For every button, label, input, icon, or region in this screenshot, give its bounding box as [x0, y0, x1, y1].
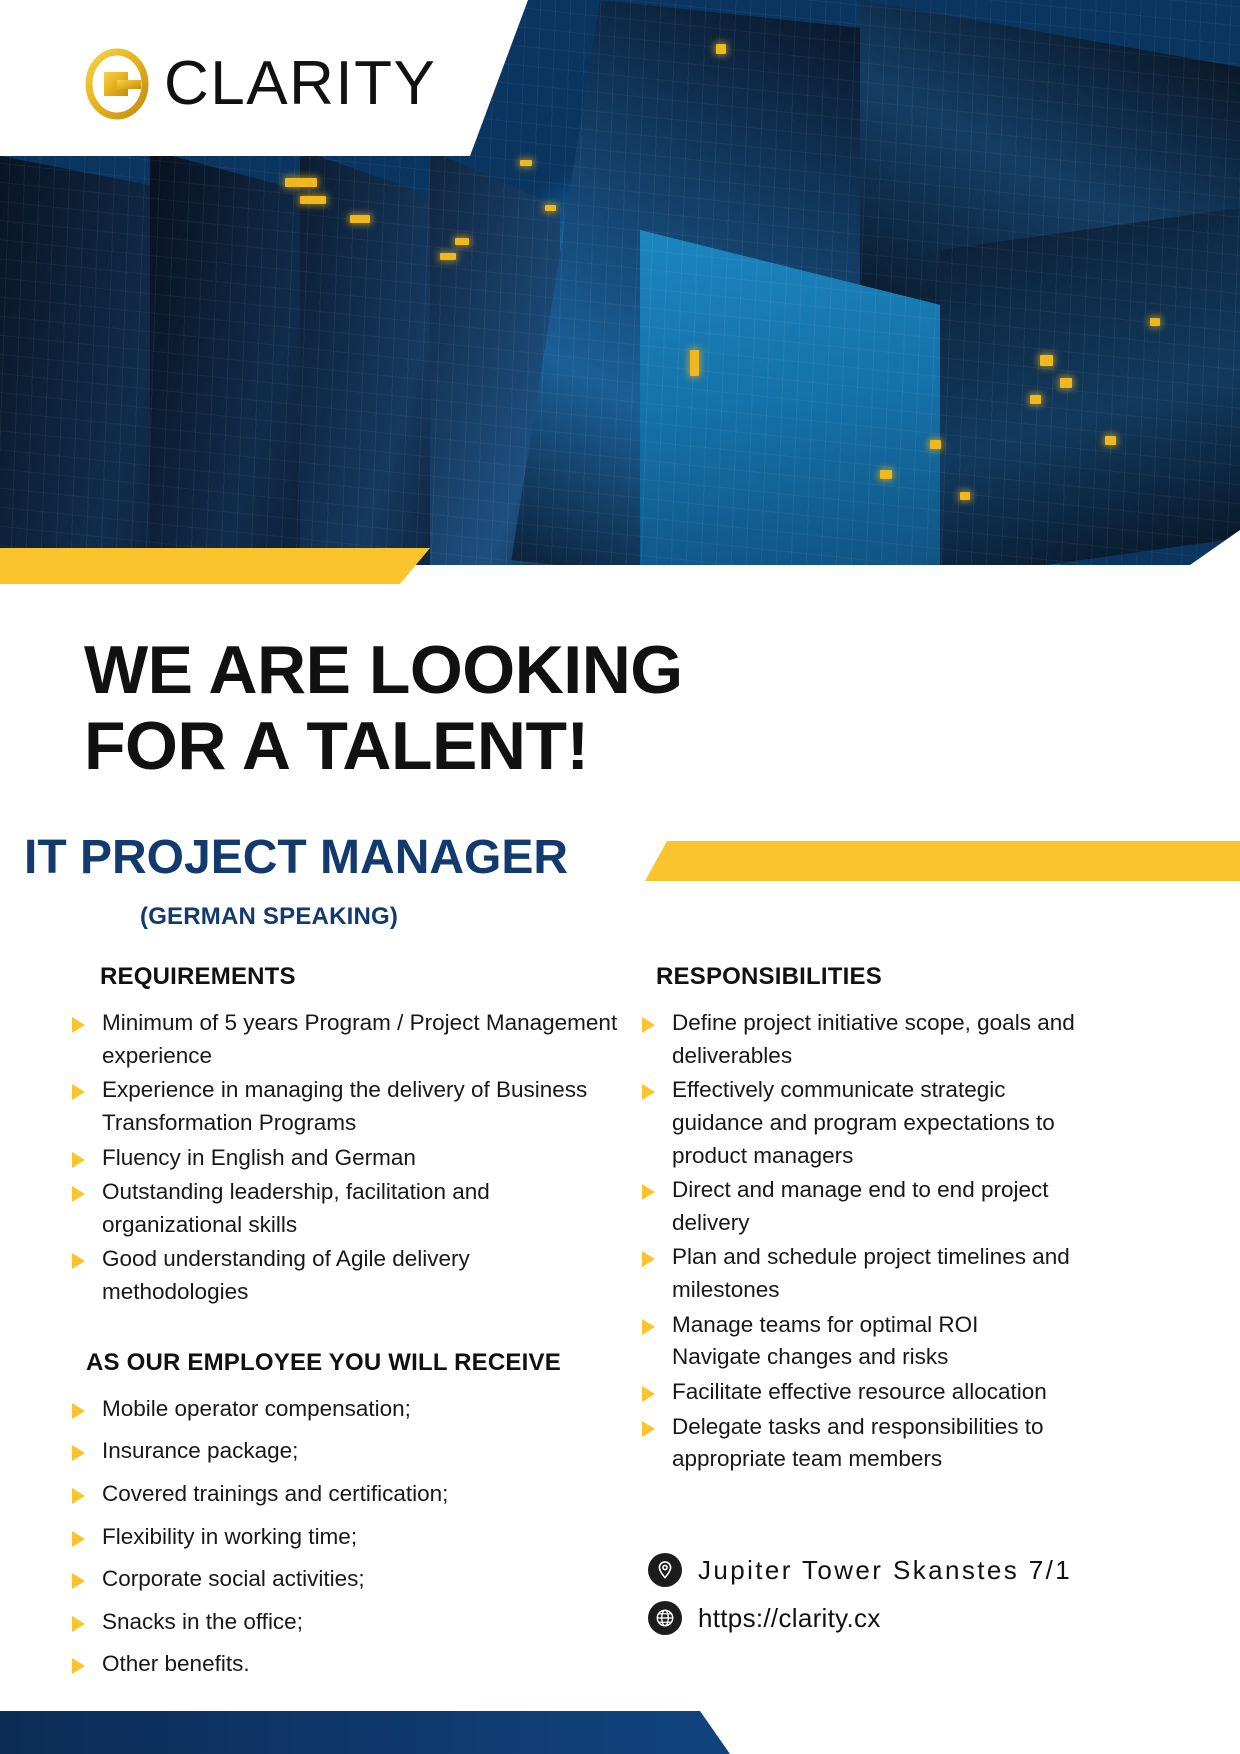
- brand-name: CLARITY: [164, 53, 436, 115]
- responsibilities-list: Define project initiative scope, goals a…: [630, 1007, 1100, 1476]
- benefits-heading: AS OUR EMPLOYEE YOU WILL RECEIVE: [86, 1349, 620, 1377]
- list-item-text: Corporate social activities;: [102, 1566, 365, 1591]
- list-item: Outstanding leadership, facilitation and…: [60, 1176, 620, 1241]
- list-item-extra-line: Navigate changes and risks: [672, 1341, 1100, 1374]
- list-item: Direct and manage end to end project del…: [630, 1174, 1100, 1239]
- brand-logo: CLARITY: [84, 48, 436, 120]
- list-item: Good understanding of Agile delivery met…: [60, 1243, 620, 1308]
- job-title-row: IT PROJECT MANAGER: [0, 833, 1240, 891]
- triangle-bullet-icon: [72, 1658, 85, 1674]
- list-item: Plan and schedule project timelines and …: [630, 1241, 1100, 1306]
- list-item-text: Minimum of 5 years Program / Project Man…: [102, 1010, 617, 1068]
- lit-window: [300, 196, 326, 204]
- lit-window: [1030, 395, 1041, 404]
- list-item: Facilitate effective resource allocation: [630, 1376, 1100, 1409]
- triangle-bullet-icon: [642, 1319, 655, 1335]
- list-item-text: Mobile operator compensation;: [102, 1396, 411, 1421]
- location-pin-icon: [648, 1553, 682, 1587]
- lit-window: [1105, 436, 1116, 445]
- contact-website-row[interactable]: https://clarity.cx: [648, 1601, 1072, 1635]
- list-item-text: Define project initiative scope, goals a…: [672, 1010, 1075, 1068]
- headline-line-1: WE ARE LOOKING: [84, 632, 844, 708]
- list-item-text: Direct and manage end to end project del…: [672, 1177, 1049, 1235]
- contact-address-row: Jupiter Tower Skanstes 7/1: [648, 1553, 1072, 1587]
- requirements-heading: REQUIREMENTS: [100, 963, 620, 991]
- list-item: Mobile operator compensation;: [60, 1393, 620, 1426]
- list-item-text: Fluency in English and German: [102, 1145, 416, 1170]
- list-item: Experience in managing the delivery of B…: [60, 1074, 620, 1139]
- left-column: REQUIREMENTS Minimum of 5 years Program …: [60, 963, 620, 1691]
- list-item-text: Facilitate effective resource allocation: [672, 1379, 1047, 1404]
- triangle-bullet-icon: [72, 1253, 85, 1269]
- triangle-bullet-icon: [72, 1445, 85, 1461]
- list-item: Fluency in English and German: [60, 1142, 620, 1175]
- lit-window: [285, 178, 317, 187]
- list-item: Delegate tasks and responsibilities to a…: [630, 1411, 1100, 1476]
- list-item-text: Delegate tasks and responsibilities to a…: [672, 1414, 1043, 1472]
- headline-line-2: FOR A TALENT!: [84, 708, 844, 784]
- list-item-text: Experience in managing the delivery of B…: [102, 1077, 587, 1135]
- lit-window: [350, 215, 370, 223]
- list-item: Insurance package;: [60, 1435, 620, 1468]
- page-title: WE ARE LOOKING FOR A TALENT!: [84, 632, 844, 784]
- list-item-text: Covered trainings and certification;: [102, 1481, 448, 1506]
- yellow-accent-wedge: [0, 548, 430, 584]
- triangle-bullet-icon: [642, 1017, 655, 1033]
- lit-window: [1060, 378, 1072, 388]
- triangle-bullet-icon: [72, 1403, 85, 1419]
- list-item-text: Insurance package;: [102, 1438, 298, 1463]
- contact-address: Jupiter Tower Skanstes 7/1: [698, 1555, 1072, 1586]
- list-item-text: Good understanding of Agile delivery met…: [102, 1246, 470, 1304]
- lit-window: [1150, 318, 1160, 326]
- list-item: Flexibility in working time;: [60, 1521, 620, 1554]
- list-item: Effectively communicate strategic guidan…: [630, 1074, 1100, 1172]
- globe-icon: [648, 1601, 682, 1635]
- job-poster: CLARITY WE ARE LOOKING FOR A TALENT! IT …: [0, 0, 1240, 1754]
- list-item-text: Flexibility in working time;: [102, 1524, 357, 1549]
- contact-block: Jupiter Tower Skanstes 7/1 https://clari…: [648, 1553, 1072, 1635]
- triangle-bullet-icon: [72, 1084, 85, 1100]
- lit-window: [716, 44, 726, 54]
- list-item: Corporate social activities;: [60, 1563, 620, 1596]
- contact-website[interactable]: https://clarity.cx: [698, 1603, 881, 1634]
- triangle-bullet-icon: [72, 1573, 85, 1589]
- list-item: Covered trainings and certification;: [60, 1478, 620, 1511]
- lit-window: [1040, 355, 1053, 366]
- job-subtitle: (GERMAN SPEAKING): [140, 903, 398, 931]
- triangle-bullet-icon: [642, 1251, 655, 1267]
- list-item-text: Plan and schedule project timelines and …: [672, 1244, 1070, 1302]
- list-item: Other benefits.: [60, 1648, 620, 1681]
- triangle-bullet-icon: [72, 1186, 85, 1202]
- list-item-text: Outstanding leadership, facilitation and…: [102, 1179, 490, 1237]
- list-item-text: Manage teams for optimal ROI: [672, 1312, 978, 1337]
- triangle-bullet-icon: [72, 1152, 85, 1168]
- lit-window: [930, 440, 941, 449]
- responsibilities-heading: RESPONSIBILITIES: [656, 963, 1100, 991]
- list-item: Manage teams for optimal ROINavigate cha…: [630, 1309, 1100, 1374]
- triangle-bullet-icon: [642, 1084, 655, 1100]
- list-item-text: Effectively communicate strategic guidan…: [672, 1077, 1055, 1167]
- triangle-bullet-icon: [72, 1616, 85, 1632]
- right-column: RESPONSIBILITIES Define project initiati…: [630, 963, 1100, 1478]
- triangle-bullet-icon: [72, 1531, 85, 1547]
- job-title: IT PROJECT MANAGER: [24, 833, 568, 883]
- lit-window: [520, 160, 532, 166]
- lit-window: [440, 253, 456, 260]
- job-title-accent-band: [645, 841, 1240, 881]
- list-item: Snacks in the office;: [60, 1606, 620, 1639]
- triangle-bullet-icon: [642, 1386, 655, 1402]
- triangle-bullet-icon: [642, 1184, 655, 1200]
- triangle-bullet-icon: [642, 1421, 655, 1437]
- footer-bar: [0, 1711, 1240, 1754]
- lit-window: [960, 492, 970, 500]
- benefits-list: Mobile operator compensation; Insurance …: [60, 1393, 620, 1681]
- list-item: Define project initiative scope, goals a…: [630, 1007, 1100, 1072]
- lit-window: [880, 470, 892, 479]
- lit-window: [690, 350, 699, 376]
- list-item-text: Snacks in the office;: [102, 1609, 303, 1634]
- triangle-bullet-icon: [72, 1017, 85, 1033]
- lit-window: [455, 238, 469, 245]
- list-item: Minimum of 5 years Program / Project Man…: [60, 1007, 620, 1072]
- clarity-circle-mark-icon: [84, 48, 150, 120]
- list-item-text: Other benefits.: [102, 1651, 250, 1676]
- lit-window: [545, 205, 556, 211]
- triangle-bullet-icon: [72, 1488, 85, 1504]
- requirements-list: Minimum of 5 years Program / Project Man…: [60, 1007, 620, 1309]
